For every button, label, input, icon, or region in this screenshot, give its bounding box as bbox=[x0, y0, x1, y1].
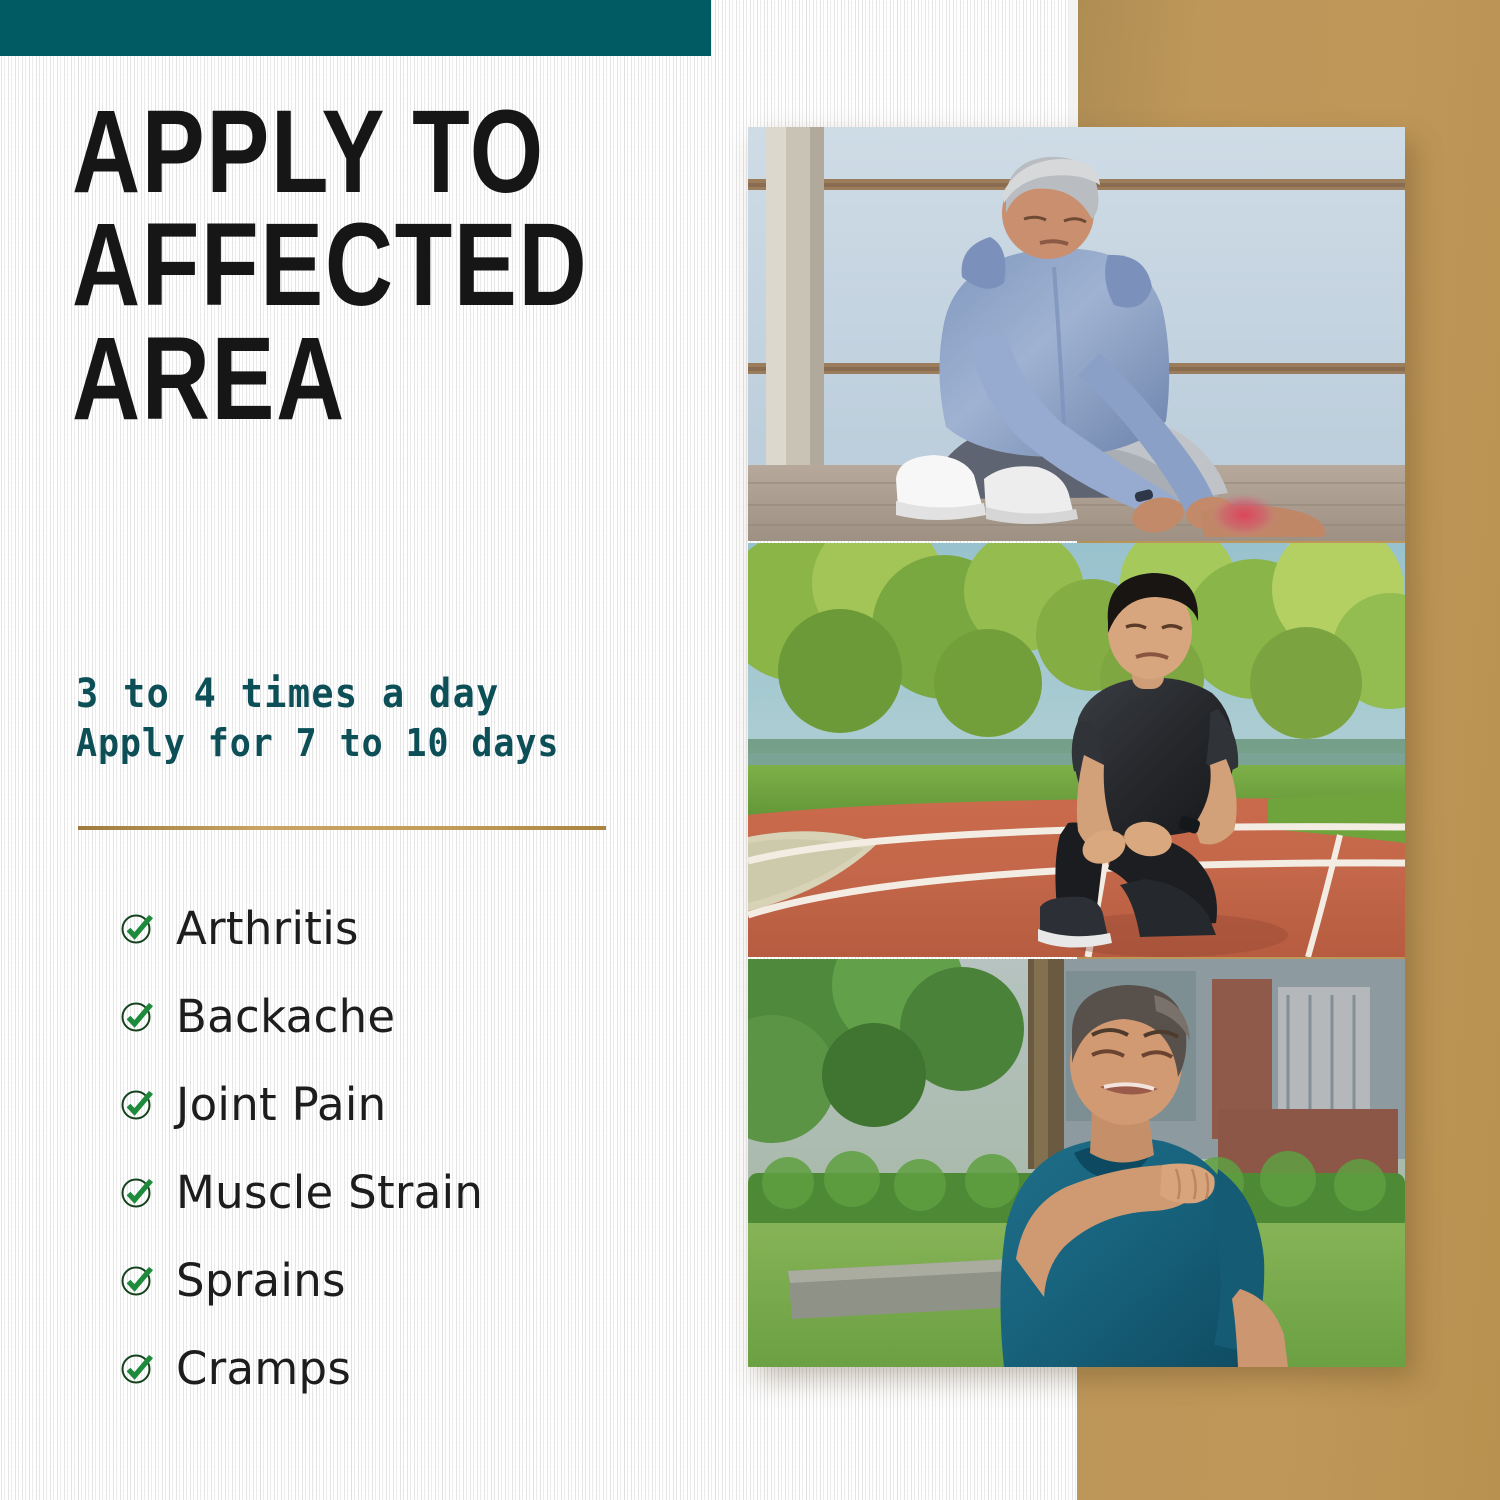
list-item: Muscle Strain bbox=[120, 1148, 680, 1236]
poster-root: APPLY TO AFFECTED AREA 3 to 4 times a da… bbox=[0, 0, 1500, 1500]
check-circle-icon bbox=[120, 1351, 154, 1385]
gold-divider bbox=[78, 826, 606, 830]
check-circle-icon bbox=[120, 999, 154, 1033]
list-item-label: Muscle Strain bbox=[176, 1170, 483, 1215]
list-item-label: Sprains bbox=[176, 1258, 346, 1303]
ankle-pain-photo bbox=[748, 127, 1405, 541]
check-circle-icon bbox=[120, 1087, 154, 1121]
top-teal-accent-bar bbox=[0, 0, 711, 56]
knee-pain-photo bbox=[748, 543, 1405, 957]
check-circle-icon bbox=[120, 1175, 154, 1209]
list-item: Cramps bbox=[120, 1324, 680, 1412]
list-item-label: Backache bbox=[176, 994, 395, 1039]
list-item: Joint Pain bbox=[120, 1060, 680, 1148]
list-item: Sprains bbox=[120, 1236, 680, 1324]
page-title: APPLY TO AFFECTED AREA bbox=[72, 96, 584, 436]
check-circle-icon bbox=[120, 1263, 154, 1297]
list-item: Backache bbox=[120, 972, 680, 1060]
list-item: Arthritis bbox=[120, 884, 680, 972]
check-circle-icon bbox=[120, 911, 154, 945]
dosage-duration-text: Apply for 7 to 10 days bbox=[76, 721, 646, 766]
shoulder-pain-photo bbox=[748, 959, 1405, 1367]
conditions-list: Arthritis Backache Joint Pain bbox=[120, 884, 680, 1412]
panel-edge-sliver bbox=[1069, 0, 1078, 128]
dosage-instructions: 3 to 4 times a day Apply for 7 to 10 day… bbox=[76, 672, 696, 766]
list-item-label: Joint Pain bbox=[176, 1082, 387, 1127]
dosage-frequency-text: 3 to 4 times a day bbox=[76, 672, 646, 717]
list-item-label: Arthritis bbox=[176, 906, 359, 951]
photo-collage bbox=[748, 127, 1405, 1367]
list-item-label: Cramps bbox=[176, 1346, 351, 1391]
